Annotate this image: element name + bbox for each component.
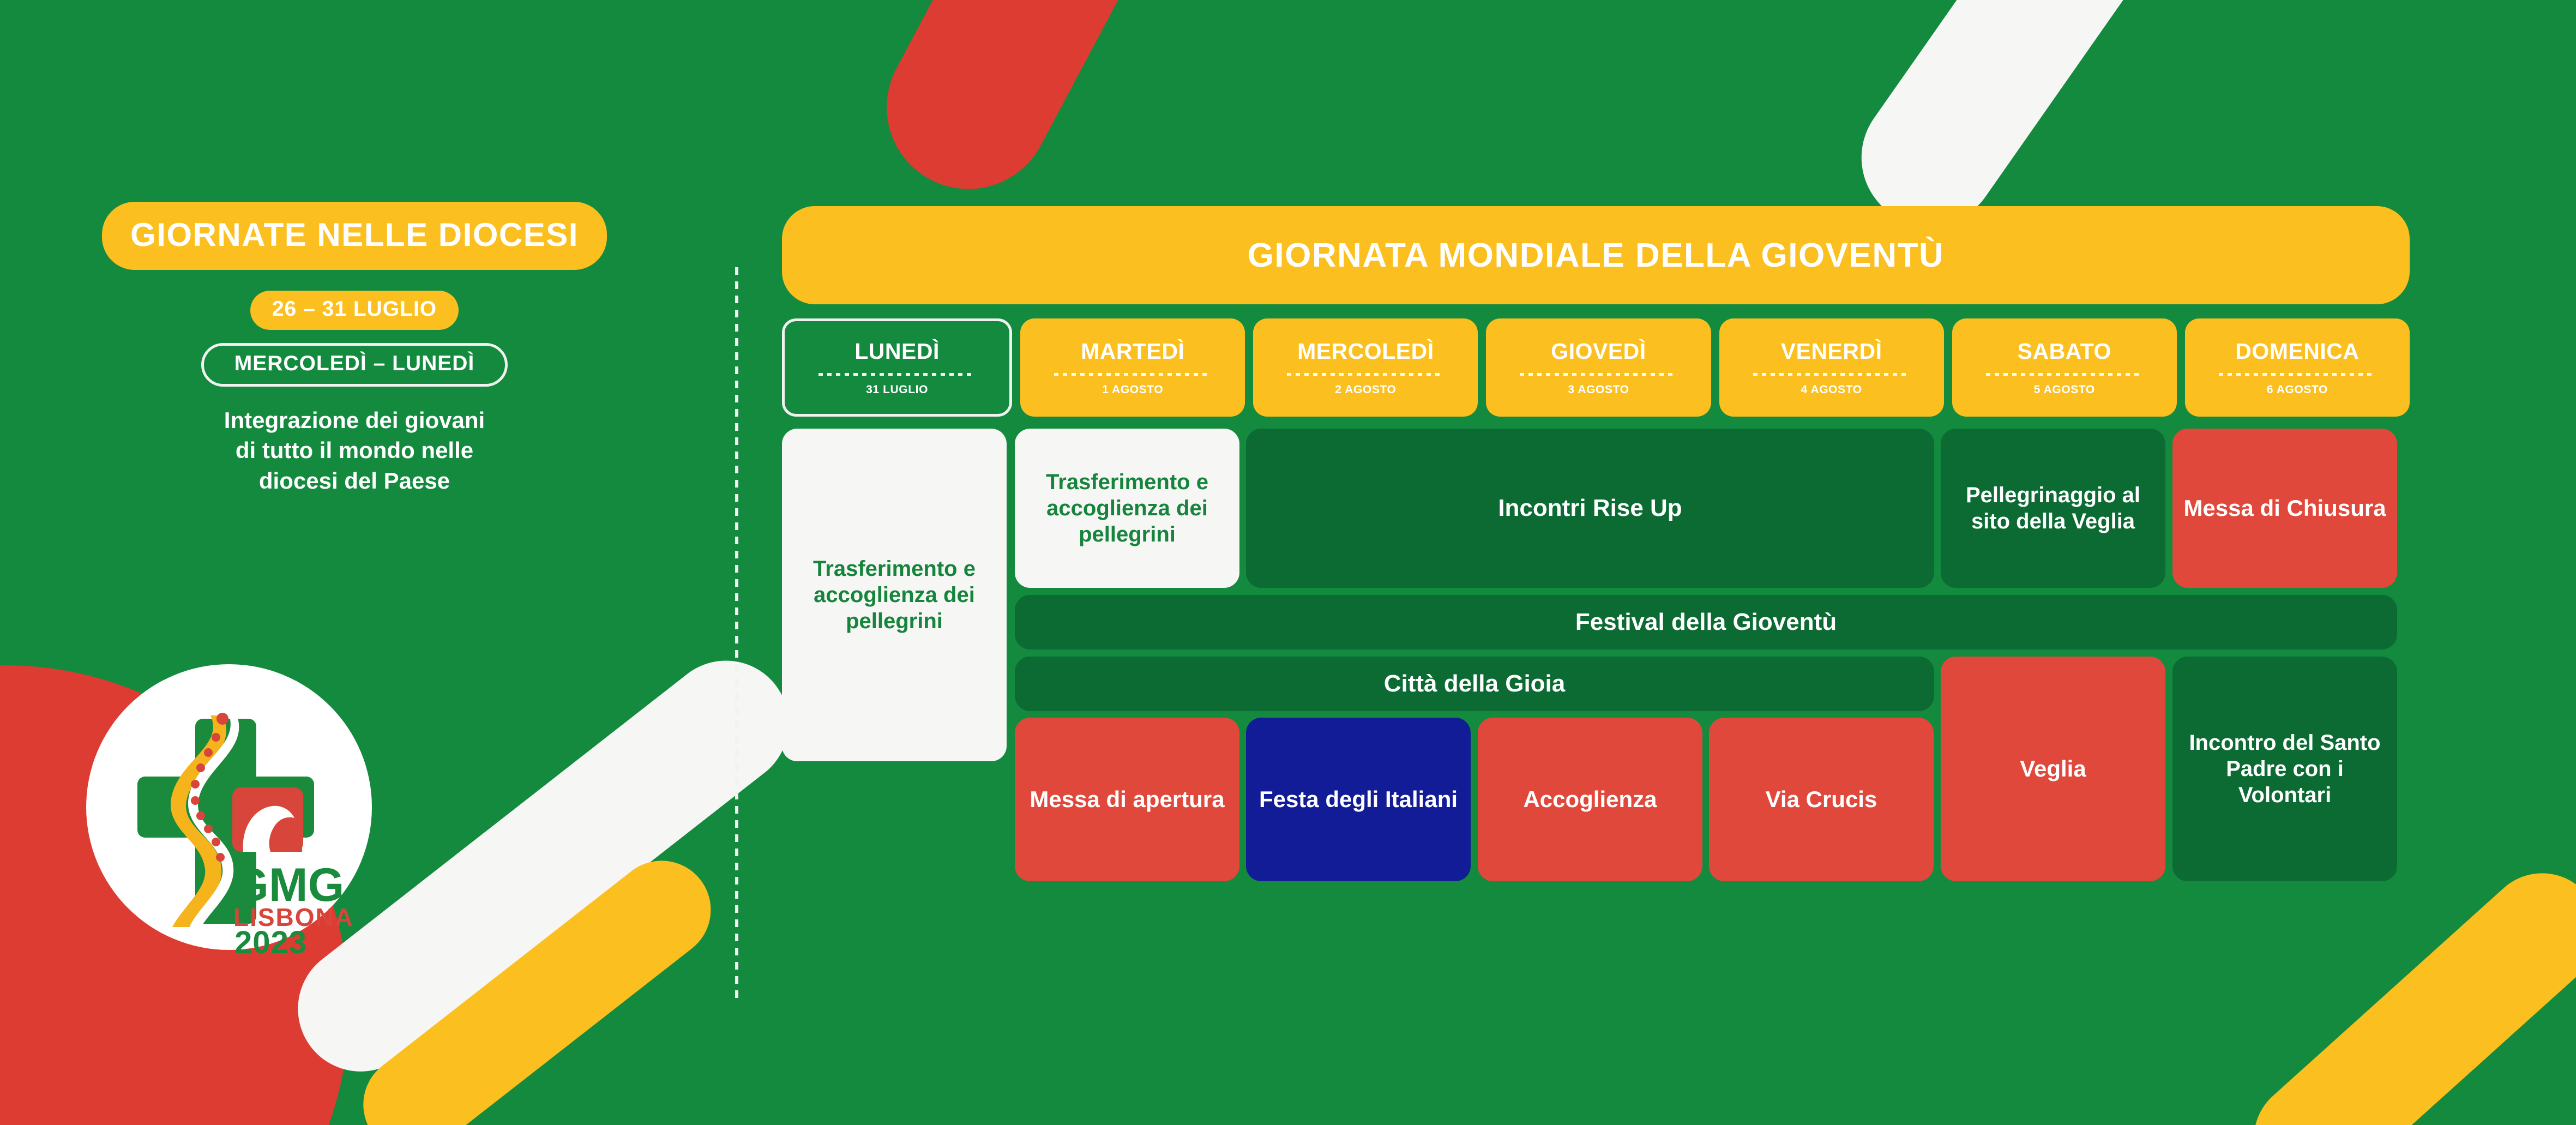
event-pellegrinaggio-veglia[interactable]: Pellegrinaggio al sito della Veglia: [1941, 429, 2165, 588]
event-festa-degli-italiani[interactable]: Festa degli Italiani: [1246, 718, 1471, 881]
dashed-rule-icon: [1054, 373, 1211, 376]
dashed-rule-icon: [1287, 373, 1444, 376]
event-trasferimento-lunedi[interactable]: Trasferimento e accoglienza dei pellegri…: [782, 429, 1007, 761]
day-name: DOMENICA: [2235, 339, 2359, 364]
event-via-crucis[interactable]: Via Crucis: [1709, 718, 1934, 881]
dashed-rule-icon: [1986, 373, 2143, 376]
event-trasferimento-martedi[interactable]: Trasferimento e accoglienza dei pellegri…: [1015, 429, 1239, 588]
diocese-days-weekday-range: MERCOLEDÌ – LUNEDÌ: [201, 343, 508, 387]
day-header-martedi[interactable]: MARTEDÌ 1 AGOSTO: [1020, 318, 1245, 417]
event-veglia[interactable]: Veglia: [1941, 657, 2165, 881]
event-festival-della-gioventu[interactable]: Festival della Gioventù: [1015, 595, 2397, 649]
day-date: 6 AGOSTO: [2267, 383, 2328, 396]
diocese-days-description: Integrazione dei giovani di tutto il mon…: [0, 405, 709, 496]
event-accoglienza[interactable]: Accoglienza: [1478, 718, 1702, 881]
day-header-venerdi[interactable]: VENERDÌ 4 AGOSTO: [1719, 318, 1944, 417]
day-date: 4 AGOSTO: [1801, 383, 1862, 396]
event-incontri-rise-up[interactable]: Incontri Rise Up: [1246, 429, 1934, 588]
dashed-rule-icon: [818, 373, 976, 376]
schedule-grid: Trasferimento e accoglienza dei pellegri…: [782, 429, 2410, 974]
day-name: VENERDÌ: [1781, 339, 1882, 364]
day-date: 5 AGOSTO: [2034, 383, 2095, 396]
event-messa-di-chiusura[interactable]: Messa di Chiusura: [2172, 429, 2397, 588]
day-date: 31 LUGLIO: [866, 383, 928, 396]
day-header-giovedi[interactable]: GIOVEDÌ 3 AGOSTO: [1486, 318, 1711, 417]
diocese-days-date-badge: 26 – 31 LUGLIO: [250, 291, 459, 330]
day-date: 1 AGOSTO: [1102, 383, 1163, 396]
diocese-days-panel: GIORNATE NELLE DIOCESI 26 – 31 LUGLIO ME…: [0, 202, 709, 496]
description-line-2: di tutto il mondo nelle: [0, 435, 709, 465]
day-name: SABATO: [2018, 339, 2111, 364]
day-name: MARTEDÌ: [1081, 339, 1184, 364]
day-header-lunedi[interactable]: LUNEDÌ 31 LUGLIO: [782, 318, 1012, 417]
gmg-lisbona-2023-logo: GMG LISBONA 2023: [76, 654, 382, 960]
event-citta-della-gioia[interactable]: Città della Gioia: [1015, 657, 1934, 711]
day-name: GIOVEDÌ: [1551, 339, 1646, 364]
diocese-days-title: GIORNATE NELLE DIOCESI: [102, 202, 607, 270]
wyd-schedule: GIORNATA MONDIALE DELLA GIOVENTÙ LUNEDÌ …: [782, 206, 2410, 974]
decor-yellow-bar-bottom-left: [344, 841, 731, 1125]
description-line-1: Integrazione dei giovani: [0, 405, 709, 435]
day-date: 2 AGOSTO: [1335, 383, 1396, 396]
day-date: 3 AGOSTO: [1568, 383, 1629, 396]
logo-year: 2023: [234, 925, 307, 960]
poster-canvas: GIORNATE NELLE DIOCESI 26 – 31 LUGLIO ME…: [0, 0, 2576, 1125]
dashed-rule-icon: [1753, 373, 1910, 376]
description-line-3: diocesi del Paese: [0, 466, 709, 496]
decor-red-bar-top: [858, 0, 1182, 218]
wyd-banner-title: GIORNATA MONDIALE DELLA GIOVENTÙ: [782, 206, 2410, 304]
day-header-sabato[interactable]: SABATO 5 AGOSTO: [1952, 318, 2177, 417]
event-messa-di-apertura[interactable]: Messa di apertura: [1015, 718, 1239, 881]
day-header-domenica[interactable]: DOMENICA 6 AGOSTO: [2185, 318, 2410, 417]
day-name: LUNEDÌ: [854, 339, 940, 364]
vertical-dashed-divider: [735, 267, 738, 998]
event-incontro-santo-padre-volontari[interactable]: Incontro del Santo Padre con i Volontari: [2172, 657, 2397, 881]
day-name: MERCOLEDÌ: [1297, 339, 1434, 364]
dashed-rule-icon: [1520, 373, 1677, 376]
day-header-row: LUNEDÌ 31 LUGLIO MARTEDÌ 1 AGOSTO MERCOL…: [782, 318, 2410, 417]
dashed-rule-icon: [2219, 373, 2376, 376]
day-header-mercoledi[interactable]: MERCOLEDÌ 2 AGOSTO: [1253, 318, 1478, 417]
